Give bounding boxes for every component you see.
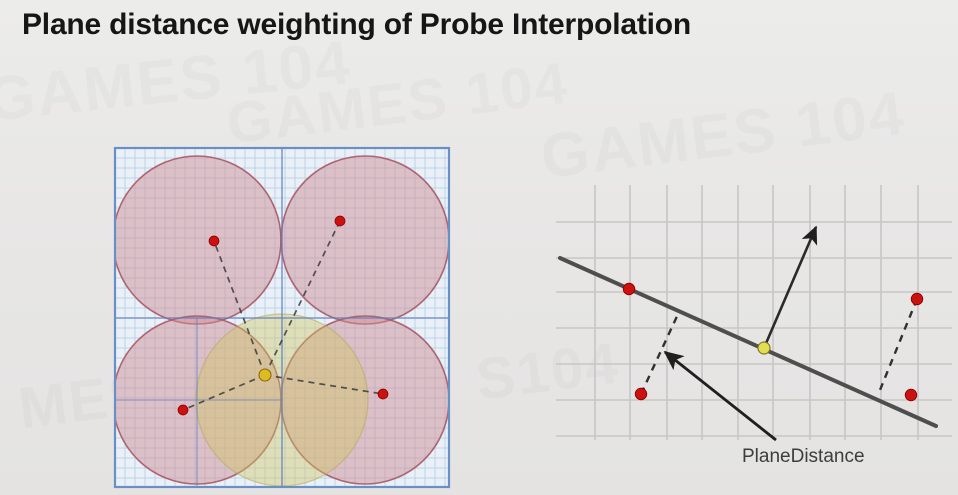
- watermark-text: GAMES 104: [0, 27, 355, 136]
- probe-below-left: [635, 388, 647, 400]
- probe-top-left: [209, 236, 219, 246]
- probe-top-right: [335, 216, 345, 226]
- slide-title: Plane distance weighting of Probe Interp…: [22, 8, 691, 42]
- normal-vector-arrow: [764, 227, 816, 348]
- influence-top-right: [281, 156, 449, 324]
- distance-left: [641, 312, 679, 394]
- plane-distance-callout-arrow: [665, 352, 776, 440]
- probe-above-right: [911, 293, 923, 305]
- influence-top-left: [113, 156, 281, 324]
- plane-distance-label: PlaneDistance: [742, 446, 865, 467]
- shading-point: [758, 342, 770, 354]
- distance-right: [880, 299, 917, 390]
- probe-grid-diagram: [112, 145, 454, 493]
- probe-grid-svg: [112, 145, 454, 493]
- watermark-text: GAMES 104: [223, 49, 572, 157]
- probe-below-right: [905, 389, 917, 401]
- shading-point: [259, 369, 271, 381]
- slide-canvas: GAMES 104 GAMES 104 GAMES 104 S104 MES 1…: [0, 0, 958, 495]
- probe-on-plane-left: [623, 283, 635, 295]
- probe-bottom-right: [378, 389, 388, 399]
- probe-bottom-left: [178, 405, 188, 415]
- plane-distance-diagram: PlaneDistance: [552, 172, 952, 477]
- plane-distance-svg: PlaneDistance: [552, 172, 952, 492]
